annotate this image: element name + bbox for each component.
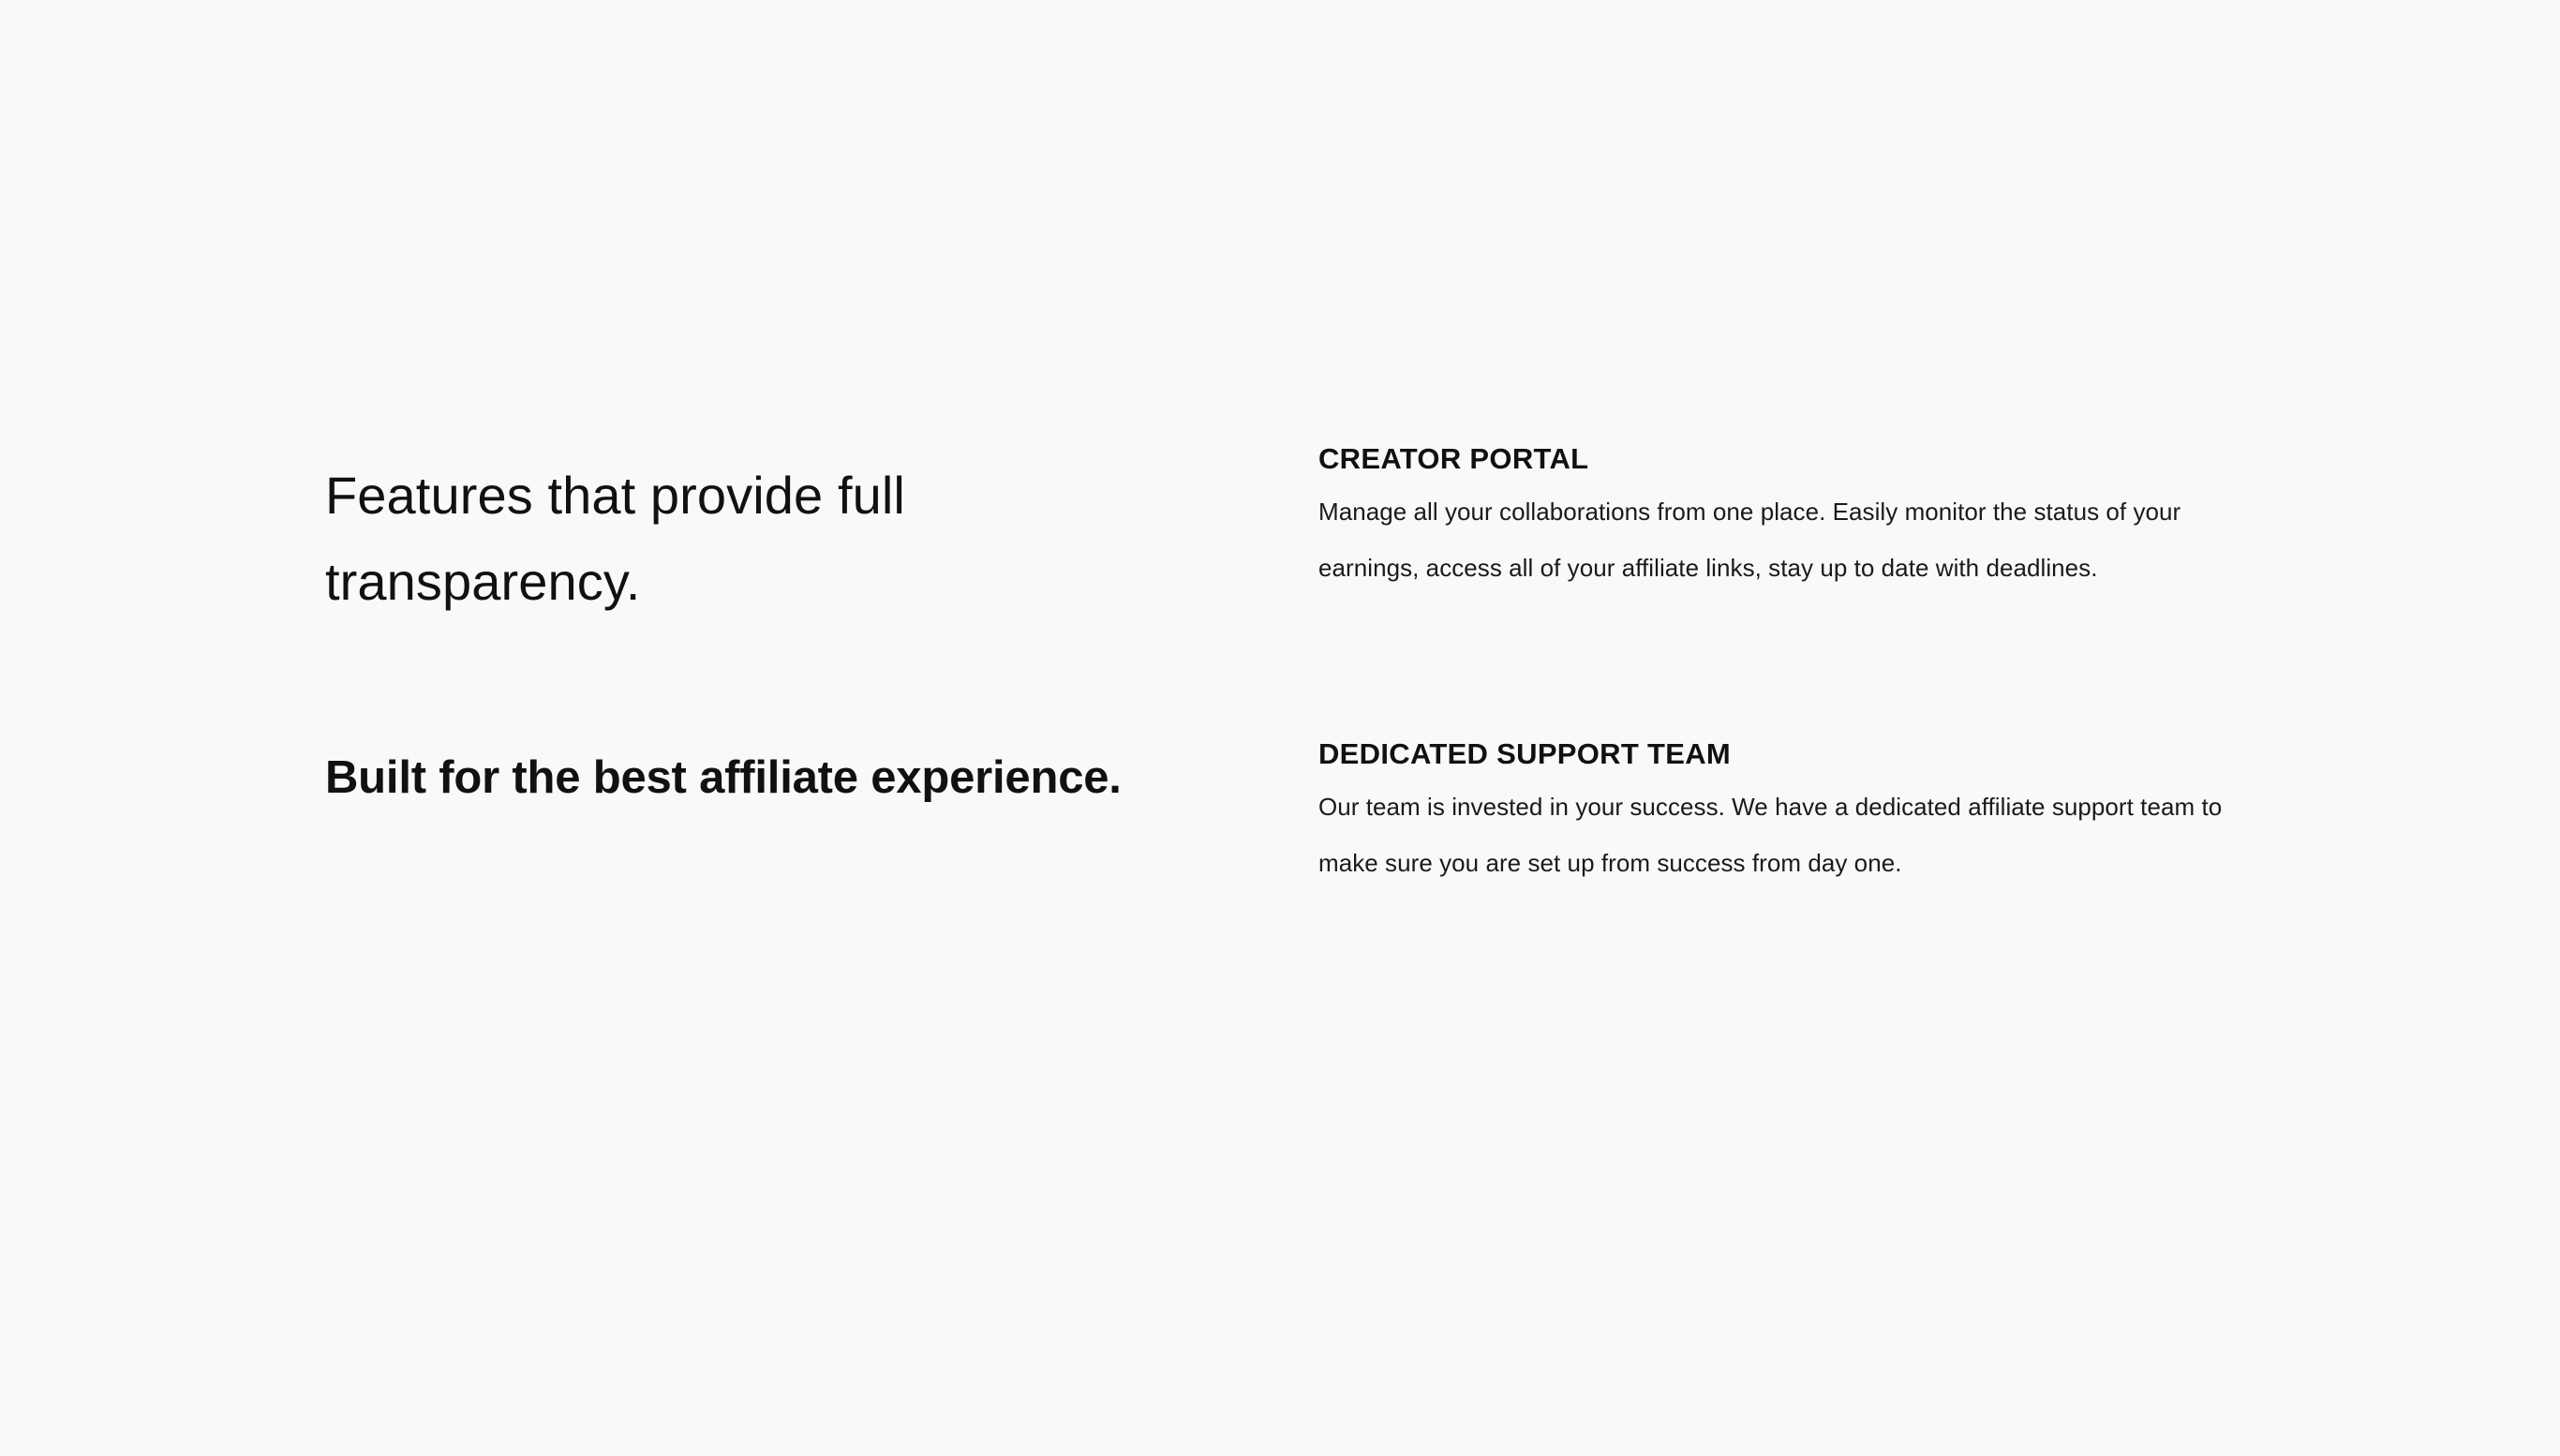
feature-body-dedicated-support-team: Our team is invested in your success. We…: [1318, 779, 2270, 891]
page-title-light: Features that provide full transparency.: [325, 440, 1168, 625]
feature-title-creator-portal: CREATOR PORTAL: [1318, 440, 2270, 478]
page-root: Features that provide full transparency.…: [0, 0, 2560, 1456]
page-title-bold: Built for the best affiliate experience.: [325, 625, 1131, 817]
feature-block-dedicated-support-team: DEDICATED SUPPORT TEAM Our team is inves…: [1318, 625, 2270, 891]
feature-body-creator-portal: Manage all your collaborations from one …: [1318, 483, 2270, 596]
feature-block-creator-portal: CREATOR PORTAL Manage all your collabora…: [1318, 440, 2270, 596]
features-section: Features that provide full transparency.…: [325, 440, 2270, 891]
feature-title-dedicated-support-team: DEDICATED SUPPORT TEAM: [1318, 735, 2270, 773]
